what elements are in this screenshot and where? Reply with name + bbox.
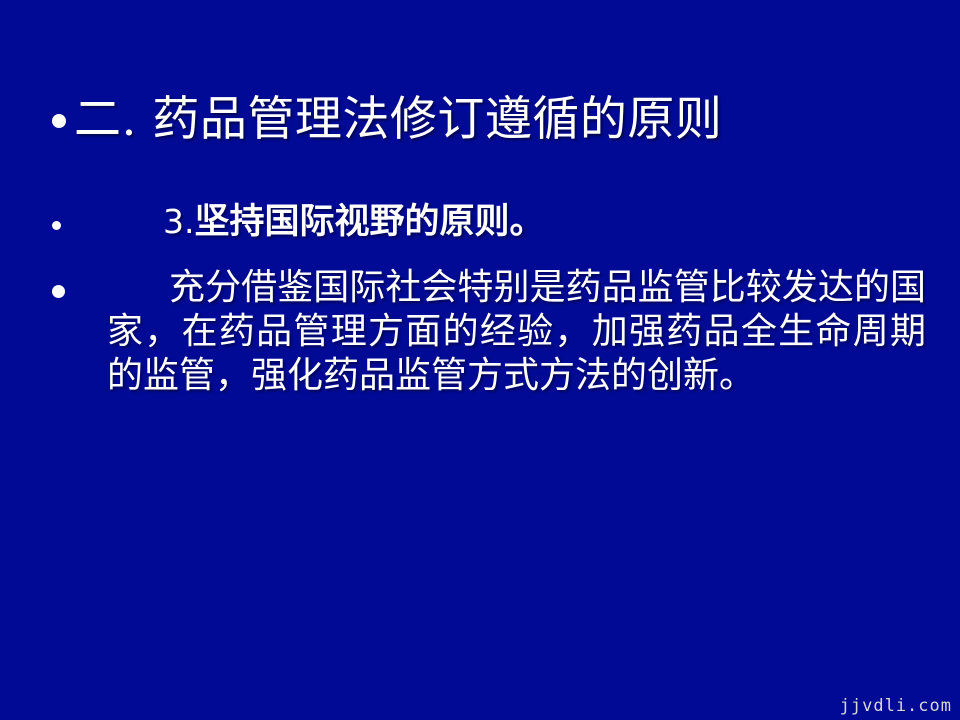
slide-title-text: 二. 药品管理法修订遵循的原则 [74,92,912,148]
subheading-row: 3.坚持国际视野的原则。 [52,200,932,244]
paragraph-text: 充分借鉴国际社会特别是药品监管比较发达的国家，在药品管理方面的经验，加强药品全生… [107,267,926,396]
paragraph-row: 充分借鉴国际社会特别是药品监管比较发达的国家，在药品管理方面的经验，加强药品全生… [52,266,932,398]
slide-canvas: 二. 药品管理法修订遵循的原则 3.坚持国际视野的原则。 充分借鉴国际社会特别是… [0,0,960,720]
subheading-text: 坚持国际视野的原则。 [195,201,545,242]
paragraph-text-wrap: 充分借鉴国际社会特别是药品监管比较发达的国家，在药品管理方面的经验，加强药品全生… [71,266,932,398]
title-bullet-icon [52,114,66,128]
slide-title: 二. 药品管理法修订遵循的原则 [52,92,912,148]
watermark-label: jjvdli.com [840,696,952,716]
subheading-number-label: 3. [163,202,195,241]
subheading-text-wrap: 3.坚持国际视野的原则。 [67,200,932,244]
subheading-bullet-icon [52,221,61,230]
paragraph-bullet-icon [52,285,65,298]
